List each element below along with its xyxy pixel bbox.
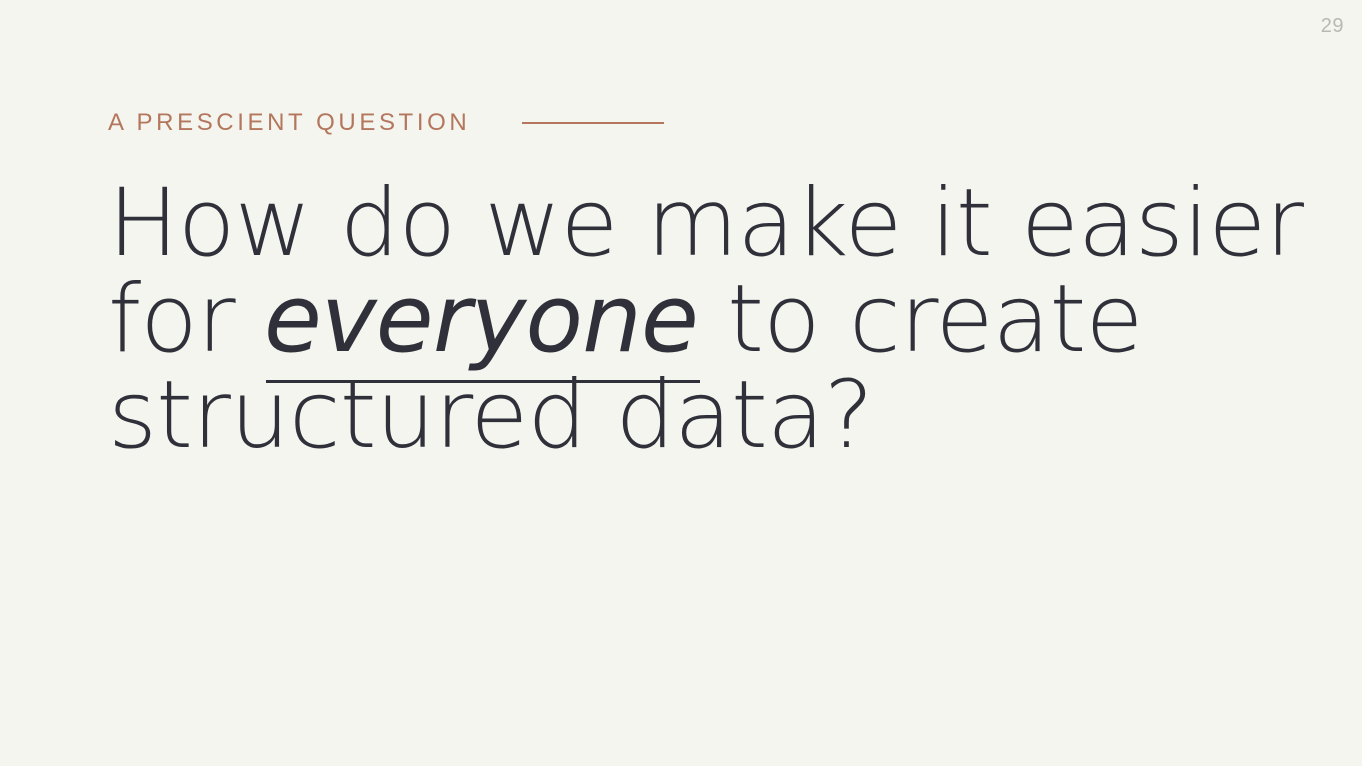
eyebrow-label: A PRESCIENT QUESTION	[108, 111, 470, 135]
headline-line-2-suffix: to create	[698, 265, 1143, 374]
eyebrow: A PRESCIENT QUESTION	[108, 106, 664, 140]
headline-line-2-prefix: for	[108, 265, 264, 374]
slide-canvas: 29 A PRESCIENT QUESTION How do we make i…	[0, 0, 1362, 766]
eyebrow-rule-icon	[522, 122, 664, 124]
page-title: How do we make it easier for everyone to…	[108, 176, 1258, 464]
headline-emphasis-everyone: everyone	[264, 272, 698, 368]
page-number: 29	[1321, 16, 1344, 36]
headline-line-1: How do we make it easier	[108, 176, 1258, 272]
headline-line-2: for everyone to create	[108, 272, 1258, 368]
